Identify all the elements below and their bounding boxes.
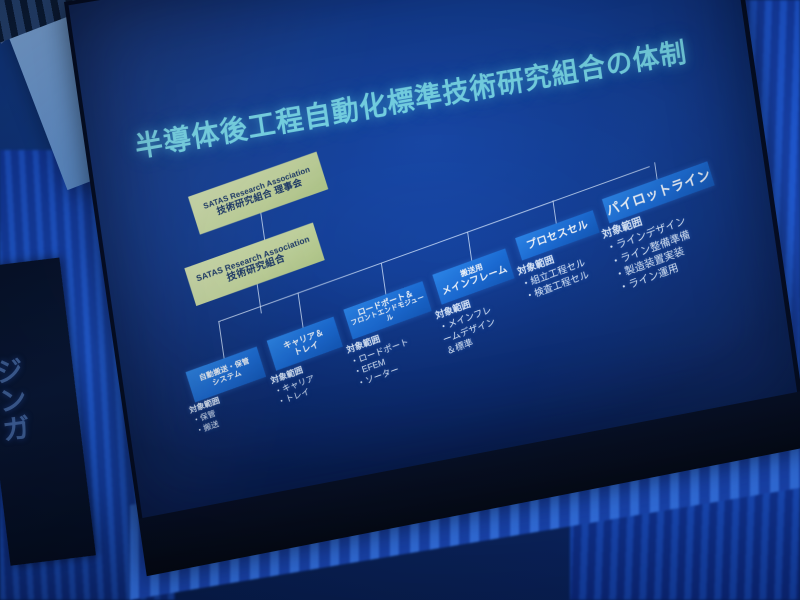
venue-banner-text: ジンガ [0,355,31,445]
org-node-riji[interactable]: SATAS Research Association 技術研究組合 理事会 [188,152,328,235]
connector-to-loadport [381,263,387,294]
connector-to-auto [218,321,225,359]
connector-kumiai-trunk [257,284,263,314]
org-node-auto-transport[interactable]: 自動搬送・保管 システム [186,347,267,403]
org-node-kumiai[interactable]: SATAS Research Association 技術研究組合 [184,223,324,307]
connector-to-pilotline [654,162,658,180]
connector-to-processcell [552,200,557,223]
connector-to-carrier [298,292,304,328]
connector-riji-kumiai [260,213,266,243]
conference-room-photo: ジンガ SATASの最新情報 半導体後工程自動化標準技術研究組合の体制 S [0,0,800,600]
connector-to-mainframe [467,232,473,261]
